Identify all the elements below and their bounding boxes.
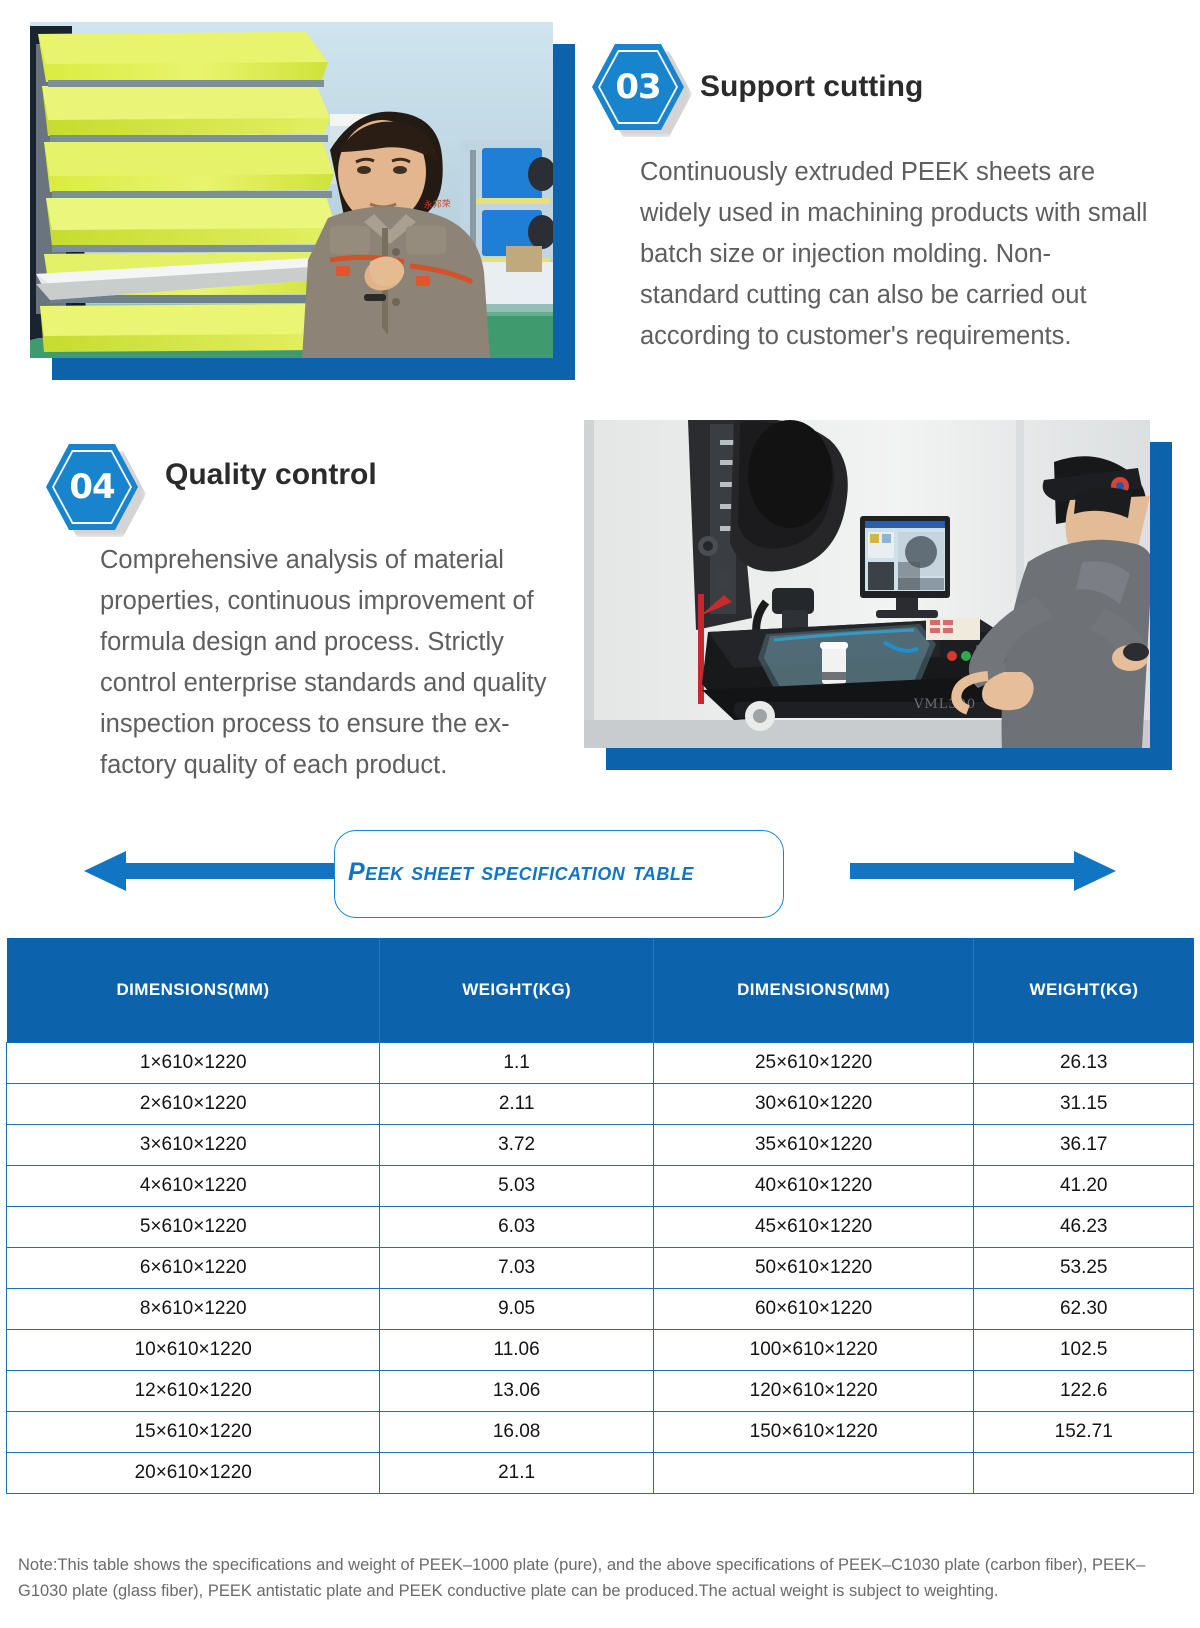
table-row: 15×610×122016.08150×610×1220152.71 [7, 1412, 1194, 1453]
table-cell: 152.71 [974, 1412, 1194, 1453]
table-cell: 35×610×1220 [653, 1125, 974, 1166]
column-header-weight-2: WEIGHT(KG) [974, 938, 1194, 1043]
table-cell: 3.72 [380, 1125, 653, 1166]
table-row: 1×610×12201.125×610×122026.13 [7, 1043, 1194, 1084]
section-title-support-cutting: Support cutting [700, 70, 923, 104]
table-row: 5×610×12206.0345×610×122046.23 [7, 1207, 1194, 1248]
section-body-quality-control: Comprehensive analysis of material prope… [100, 540, 570, 786]
photo-image-quality-control: VML300 [584, 420, 1150, 748]
table-row: 12×610×122013.06120×610×1220122.6 [7, 1371, 1194, 1412]
table-cell: 10×610×1220 [7, 1330, 380, 1371]
table-cell: 46.23 [974, 1207, 1194, 1248]
table-cell: 15×610×1220 [7, 1412, 380, 1453]
table-cell: 31.15 [974, 1084, 1194, 1125]
table-row: 20×610×122021.1 [7, 1453, 1194, 1494]
photo-artwork-factory: 永邦荣 [30, 22, 553, 358]
column-header-dimensions-1: DIMENSIONS(MM) [7, 938, 380, 1043]
section-number-label: 03 [592, 44, 684, 130]
table-cell: 36.17 [974, 1125, 1194, 1166]
table-header-row: DIMENSIONS(MM) WEIGHT(KG) DIMENSIONS(MM)… [7, 938, 1194, 1043]
table-row: 8×610×12209.0560×610×122062.30 [7, 1289, 1194, 1330]
table-cell: 9.05 [380, 1289, 653, 1330]
table-cell [974, 1453, 1194, 1494]
table-cell: 4×610×1220 [7, 1166, 380, 1207]
table-cell: 30×610×1220 [653, 1084, 974, 1125]
table-cell: 5×610×1220 [7, 1207, 380, 1248]
arrow-left-icon [84, 851, 350, 891]
table-cell: 5.03 [380, 1166, 653, 1207]
table-cell: 102.5 [974, 1330, 1194, 1371]
table-cell: 62.30 [974, 1289, 1194, 1330]
section-badge-04: 04 [46, 444, 138, 530]
table-row: 4×610×12205.0340×610×122041.20 [7, 1166, 1194, 1207]
photo-artwork-inspection-lab: VML300 [584, 420, 1150, 748]
table-cell: 8×610×1220 [7, 1289, 380, 1330]
table-cell: 60×610×1220 [653, 1289, 974, 1330]
photo-image-support-cutting: 永邦荣 [30, 22, 553, 358]
table-cell: 2.11 [380, 1084, 653, 1125]
table-cell: 6.03 [380, 1207, 653, 1248]
column-header-dimensions-2: DIMENSIONS(MM) [653, 938, 974, 1043]
section-body-support-cutting: Continuously extruded PEEK sheets are wi… [640, 152, 1148, 357]
table-cell: 45×610×1220 [653, 1207, 974, 1248]
table-body: 1×610×12201.125×610×122026.132×610×12202… [7, 1043, 1194, 1494]
table-cell: 50×610×1220 [653, 1248, 974, 1289]
table-cell: 40×610×1220 [653, 1166, 974, 1207]
table-row: 10×610×122011.06100×610×1220102.5 [7, 1330, 1194, 1371]
photo-quality-control: VML300 [584, 420, 1172, 770]
table-cell: 16.08 [380, 1412, 653, 1453]
table-cell: 1×610×1220 [7, 1043, 380, 1084]
table-cell [653, 1453, 974, 1494]
table-cell: 3×610×1220 [7, 1125, 380, 1166]
table-cell: 1.1 [380, 1043, 653, 1084]
arrow-right-icon [850, 851, 1116, 891]
table-row: 6×610×12207.0350×610×122053.25 [7, 1248, 1194, 1289]
table-cell: 53.25 [974, 1248, 1194, 1289]
banner-title: Peek sheet specification table [348, 858, 694, 887]
table-cell: 122.6 [974, 1371, 1194, 1412]
table-cell: 25×610×1220 [653, 1043, 974, 1084]
table-cell: 20×610×1220 [7, 1453, 380, 1494]
table-cell: 12×610×1220 [7, 1371, 380, 1412]
table-cell: 100×610×1220 [653, 1330, 974, 1371]
section-title-quality-control: Quality control [165, 458, 377, 492]
section-badge-03: 03 [592, 44, 684, 130]
table-cell: 41.20 [974, 1166, 1194, 1207]
table-cell: 26.13 [974, 1043, 1194, 1084]
table-cell: 21.1 [380, 1453, 653, 1494]
peek-specification-table: DIMENSIONS(MM) WEIGHT(KG) DIMENSIONS(MM)… [6, 938, 1194, 1494]
table-cell: 13.06 [380, 1371, 653, 1412]
table-cell: 11.06 [380, 1330, 653, 1371]
table-cell: 2×610×1220 [7, 1084, 380, 1125]
table-row: 2×610×12202.1130×610×122031.15 [7, 1084, 1194, 1125]
table-cell: 120×610×1220 [653, 1371, 974, 1412]
table-note: Note:This table shows the specifications… [18, 1552, 1184, 1604]
table-cell: 7.03 [380, 1248, 653, 1289]
table-cell: 6×610×1220 [7, 1248, 380, 1289]
column-header-weight-1: WEIGHT(KG) [380, 938, 653, 1043]
table-row: 3×610×12203.7235×610×122036.17 [7, 1125, 1194, 1166]
photo-support-cutting: 永邦荣 [30, 22, 575, 380]
table-cell: 150×610×1220 [653, 1412, 974, 1453]
section-number-label: 04 [46, 444, 138, 530]
